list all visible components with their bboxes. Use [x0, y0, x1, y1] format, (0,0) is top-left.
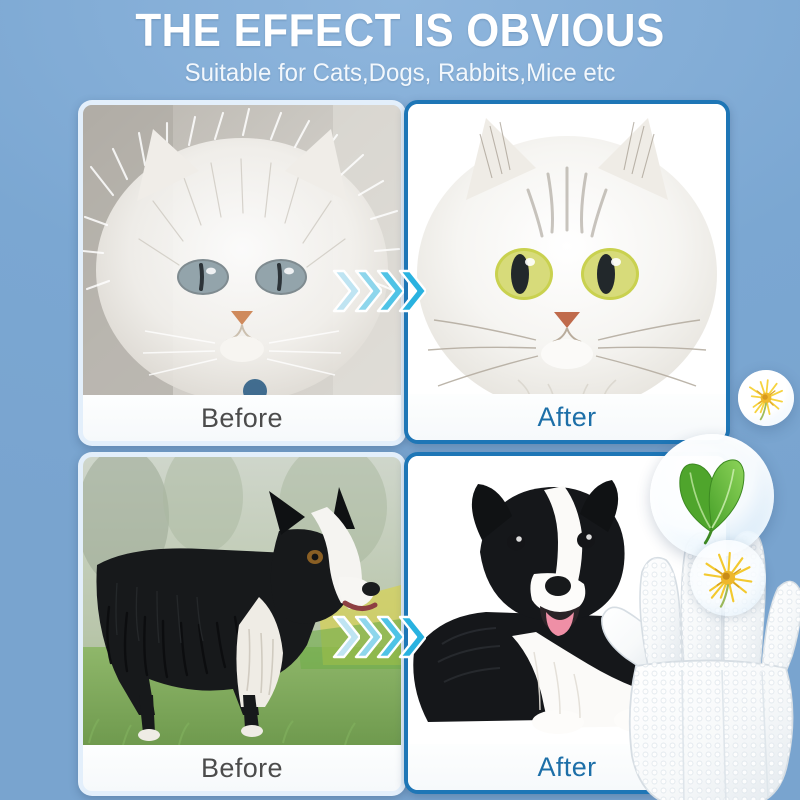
card-cat-after: After: [404, 100, 730, 444]
photo-dog-before: [83, 457, 401, 745]
transition-arrows-cat: [330, 268, 418, 314]
photo-cat-before: [83, 105, 401, 395]
alt-glove: White textured pet grooming glove: [0, 0, 1, 1]
dandelion-flower-icon: [694, 544, 762, 612]
page-title: THE EFFECT IS OBVIOUS: [32, 4, 768, 56]
badge-green-leaf: [650, 434, 774, 558]
alt-dog-before: Wet matted black and white Border Collie…: [0, 0, 1, 1]
dandelion-flower-icon: [741, 373, 791, 423]
caption-dog-before: Before: [83, 745, 401, 791]
caption-cat-before: Before: [83, 395, 401, 441]
page-subtitle: Suitable for Cats,Dogs, Rabbits,Mice etc: [16, 58, 784, 88]
alt-cat-after: Groomed fluffy white cat with smooth fur…: [0, 0, 1, 1]
chevron-right-icon: [396, 268, 426, 314]
caption-cat-after: After: [408, 394, 726, 440]
promo-banner: THE EFFECT IS OBVIOUS Suitable for Cats,…: [0, 0, 800, 800]
alt-dog-after: Clean groomed Border Collie lying down o…: [0, 0, 1, 1]
badge-dandelion-glove: [690, 540, 766, 616]
dog-before-illustration: [83, 457, 401, 745]
transition-arrows-dog: [330, 614, 418, 660]
badge-dandelion-top: [738, 370, 794, 426]
cat-before-illustration: [83, 105, 401, 395]
green-leaf-icon: [660, 444, 764, 548]
alt-cat-before: Messy ungroomed long-haired white cat wi…: [0, 0, 1, 1]
photo-cat-after: [408, 104, 726, 394]
cat-after-illustration: [408, 104, 726, 394]
chevron-right-icon: [396, 614, 426, 660]
